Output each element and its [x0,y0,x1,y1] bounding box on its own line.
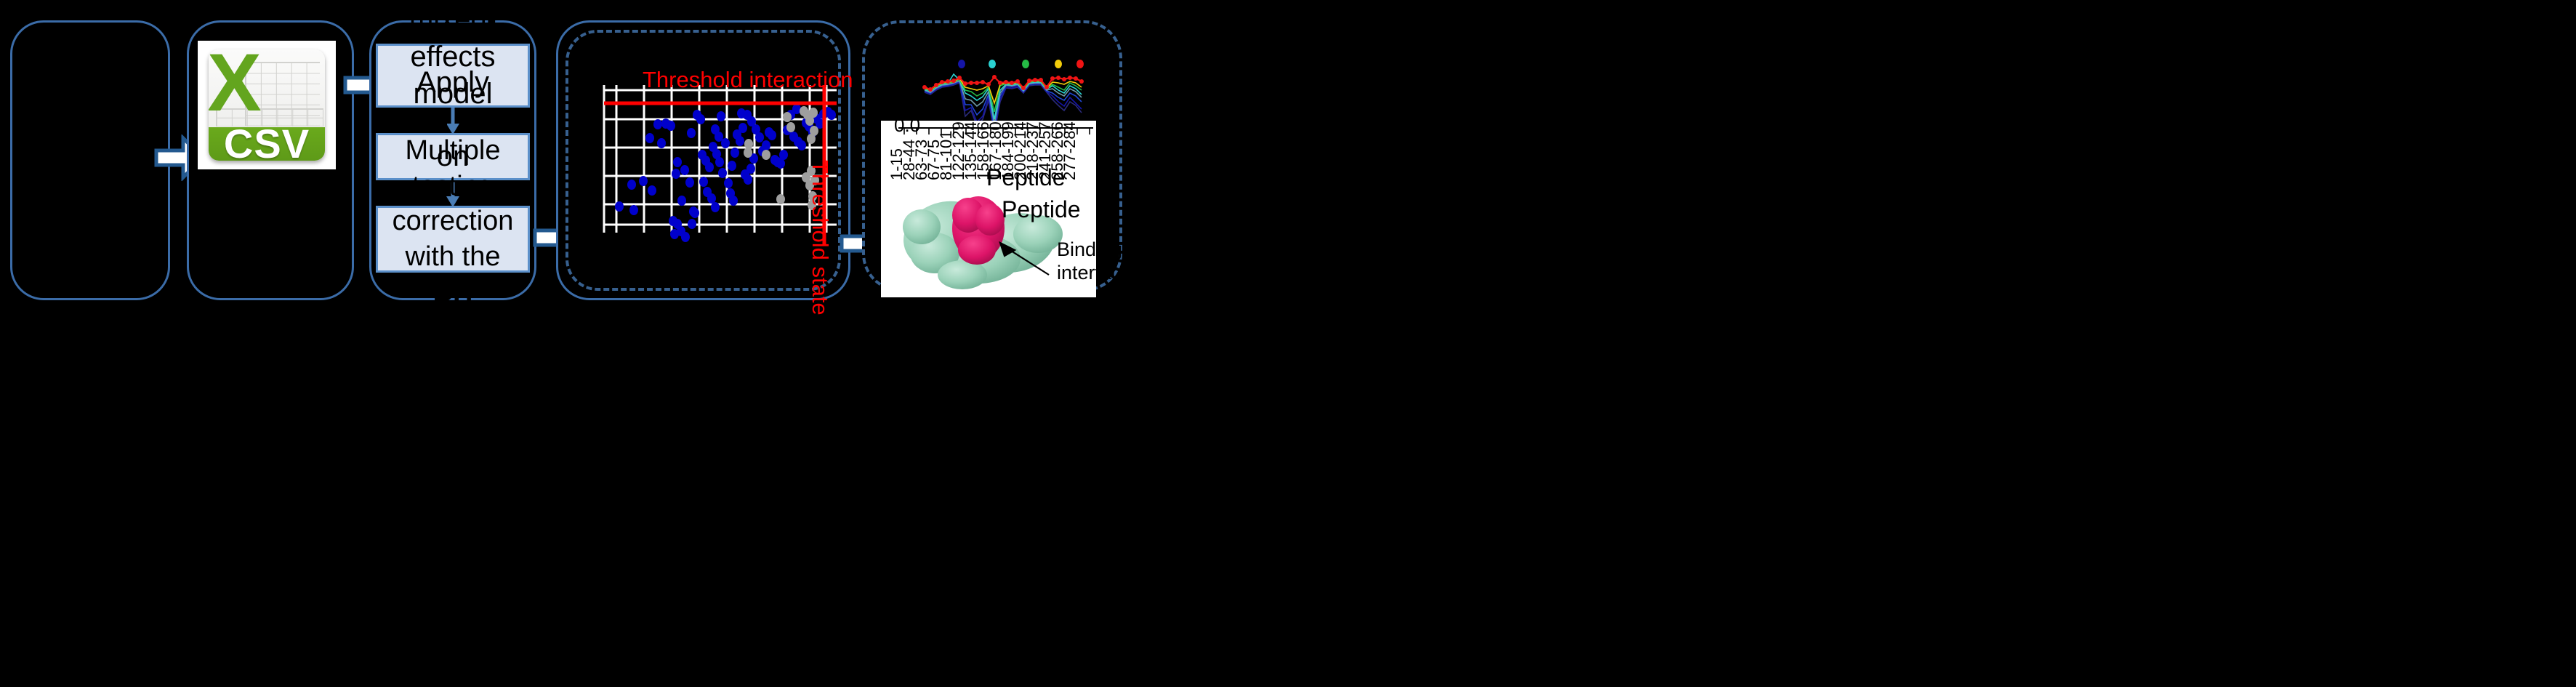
binding-label-line1: Binding [1057,238,1122,260]
scatter-svg [586,67,837,247]
workflow-diagram: X CSV Fit a linear mixed- effects model … [0,0,2576,687]
legend-marker-darkblue [958,60,965,68]
legend-marker-yellow [1055,60,1062,68]
csv-file-icon: X CSV [198,41,336,169]
scatter-points-significant [615,104,836,242]
peptide-label: Peptide [1002,196,1081,223]
bh-line2: correction [393,206,514,236]
scatter-title: Threshold interaction [643,67,853,93]
csv-band: CSV [209,127,325,161]
excel-x-icon: X [214,54,254,111]
process-box-bh[interactable]: Multiple testing correction with the BH … [376,206,530,273]
chart-legend [958,60,1084,68]
csv-extension-label: CSV [224,120,310,160]
wald-pre: Apply [416,66,489,98]
bh-pre: with the [406,241,501,272]
binding-interface-label: Binding interface [1057,238,1132,285]
wald-bold: Wald tests [381,103,526,135]
binding-label-line2: interface [1057,262,1132,284]
reml-line1: Fit a linear mixed- [409,0,496,36]
threshold-state-label: Threshold state [807,160,833,316]
bh-post: procedure [390,312,515,342]
legend-marker-red [1076,60,1084,68]
panel-input [10,20,170,300]
scatter-plot: Threshold interaction [586,67,837,247]
legend-marker-green [1022,60,1029,68]
process-box-bh-text: Multiple testing correction with the BH … [385,133,520,345]
bh-bold: BH [433,277,473,308]
csv-tile: X CSV [209,49,325,160]
legend-marker-cyan [989,60,996,68]
bh-line1: Multiple testing [406,135,501,201]
